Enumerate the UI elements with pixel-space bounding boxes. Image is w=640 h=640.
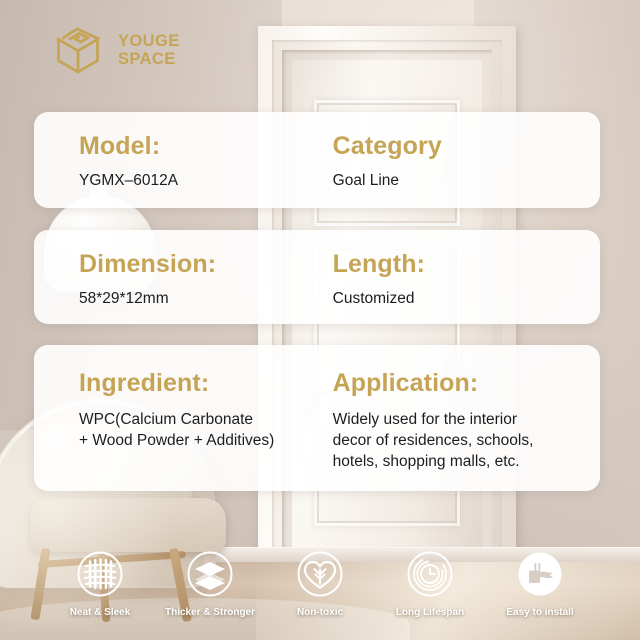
spec-value-application: Widely used for the interior decor of re… xyxy=(333,409,600,472)
brand-name-line1: YOUGE xyxy=(118,32,180,50)
spec-value-ingredient: WPC(Calcium Carbonate + Wood Powder + Ad… xyxy=(79,409,323,451)
grid-mesh-icon xyxy=(76,550,124,598)
brand-logo: YOUGE SPACE xyxy=(52,24,180,76)
spec-heading-ingredient: Ingredient: xyxy=(79,371,323,396)
spec-card-model-category: Model: YGMX–6012A Category Goal Line xyxy=(34,112,600,208)
content-overlay: YOUGE SPACE Model: YGMX–6012A Category G… xyxy=(0,0,640,640)
spec-heading-length: Length: xyxy=(333,252,600,277)
spec-heading-category: Category xyxy=(333,134,600,159)
feature-non-toxic: Non-toxic xyxy=(272,550,368,618)
spec-field-category: Category Goal Line xyxy=(323,112,600,208)
spec-heading-application: Application: xyxy=(333,371,600,396)
spec-card-ingredient-application: Ingredient: WPC(Calcium Carbonate + Wood… xyxy=(34,345,600,491)
spec-field-model: Model: YGMX–6012A xyxy=(34,112,323,208)
feature-label: Long Lifespan xyxy=(396,607,464,618)
spec-heading-model: Model: xyxy=(79,134,323,159)
plug-tool-icon xyxy=(516,550,564,598)
product-infographic: YOUGE SPACE Model: YGMX–6012A Category G… xyxy=(0,0,640,640)
brand-name-line2: SPACE xyxy=(118,50,180,68)
cube-box-logo-icon xyxy=(52,24,104,76)
feature-label: Non-toxic xyxy=(297,607,343,618)
spec-card-dimension-length: Dimension: 58*29*12mm Length: Customized xyxy=(34,230,600,324)
spec-value-length: Customized xyxy=(333,289,600,309)
feature-label: Neat & Sleek xyxy=(70,607,131,618)
feature-thicker-and-stronger: Thicker & Stronger xyxy=(162,550,258,618)
feature-label: Thicker & Stronger xyxy=(165,607,255,618)
spec-value-category: Goal Line xyxy=(333,171,600,191)
spec-field-application: Application: Widely used for the interio… xyxy=(323,345,600,491)
spec-field-length: Length: Customized xyxy=(323,230,600,324)
spec-value-model: YGMX–6012A xyxy=(79,171,323,191)
feature-strip: Neat & Sleek Thicker & Stronger xyxy=(0,550,640,618)
stacked-layers-icon xyxy=(186,550,234,598)
brand-wordmark: YOUGE SPACE xyxy=(118,32,180,69)
clock-rings-icon xyxy=(406,550,454,598)
spec-heading-dimension: Dimension: xyxy=(79,252,323,277)
feature-neat-and-sleek: Neat & Sleek xyxy=(52,550,148,618)
heart-leaf-icon xyxy=(296,550,344,598)
spec-value-dimension: 58*29*12mm xyxy=(79,289,323,309)
feature-label: Easy to install xyxy=(506,607,573,618)
spec-field-ingredient: Ingredient: WPC(Calcium Carbonate + Wood… xyxy=(34,345,323,491)
feature-long-lifespan: Long Lifespan xyxy=(382,550,478,618)
feature-easy-to-install: Easy to install xyxy=(492,550,588,618)
spec-field-dimension: Dimension: 58*29*12mm xyxy=(34,230,323,324)
